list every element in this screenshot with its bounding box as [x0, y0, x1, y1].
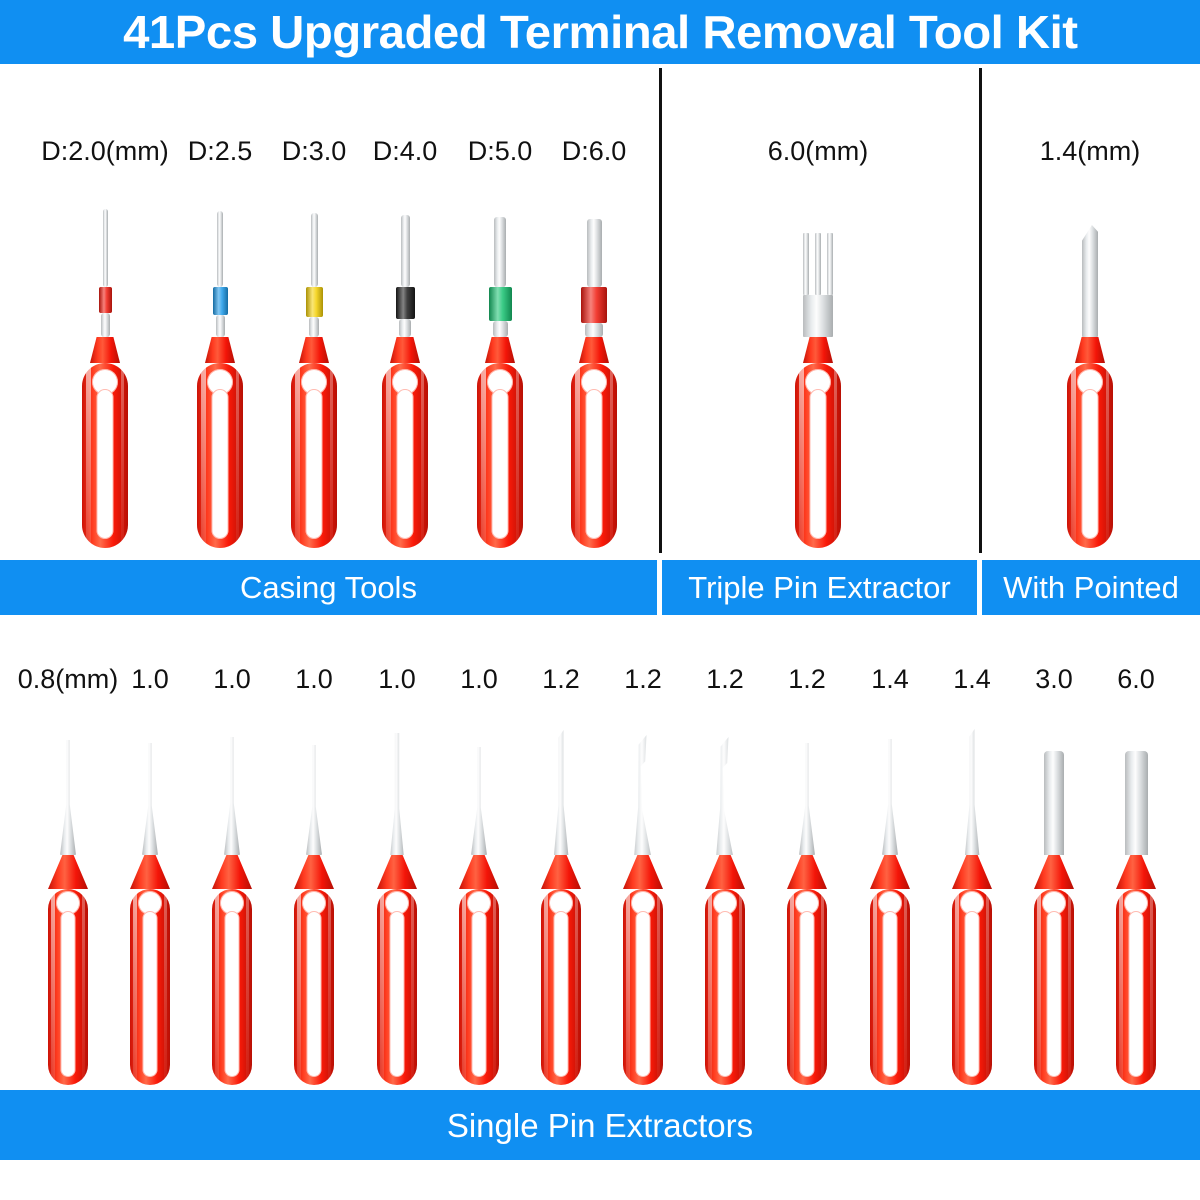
single-pin-extractor-tool[interactable]: [122, 743, 178, 1085]
casing-tool[interactable]: [470, 217, 530, 548]
category-label: With Pointed: [1003, 572, 1179, 603]
handle-body: [795, 363, 841, 548]
handle-body: [477, 363, 523, 548]
handle-slot: [1082, 389, 1099, 539]
tool-handle: [870, 855, 910, 1085]
tool-handle: [787, 855, 827, 1085]
tool-tip-tube-round: [1125, 751, 1148, 855]
handle-highlight: [462, 889, 466, 1085]
tool-tip-flat-bevel: [553, 730, 569, 855]
handle-body: [952, 889, 992, 1085]
tool-handle: [291, 337, 337, 548]
handle-highlight-secondary: [821, 889, 824, 1085]
tool-handle: [1067, 337, 1113, 548]
handle-slot: [397, 389, 414, 539]
handle-highlight: [481, 363, 486, 548]
handle-body: [459, 889, 499, 1085]
handle-neck: [1075, 337, 1105, 363]
handle-highlight: [215, 889, 219, 1085]
top-tool-row: [0, 188, 1200, 548]
handle-highlight: [133, 889, 137, 1085]
page-title: 41Pcs Upgraded Terminal Removal Tool Kit: [123, 9, 1077, 55]
handle-body: [377, 889, 417, 1085]
single-pin-extractor-tool[interactable]: [862, 739, 918, 1085]
tool-label-triple-pin: 6.0(mm): [708, 134, 928, 168]
triple-pin-extractor-tool[interactable]: [788, 233, 848, 548]
handle-body: [82, 363, 128, 548]
handle-neck: [705, 855, 745, 889]
handle-highlight: [86, 363, 91, 548]
bottom-banner-label: Single Pin Extractors: [447, 1109, 753, 1142]
tool-shaft-lower: [309, 317, 319, 337]
handle-body: [623, 889, 663, 1085]
handle-neck: [541, 855, 581, 889]
tool-shaft-lower: [493, 321, 508, 337]
tool-handle: [1116, 855, 1156, 1085]
tool-handle: [82, 337, 128, 548]
handle-slot: [636, 911, 651, 1077]
handle-highlight: [708, 889, 712, 1085]
tool-collar-red: [99, 287, 112, 313]
single-pin-extractor-tool[interactable]: [451, 747, 507, 1085]
handle-highlight-secondary: [236, 363, 239, 548]
category-label: Casing Tools: [240, 572, 417, 603]
handle-slot: [97, 389, 114, 539]
single-pin-extractor-tool[interactable]: [944, 729, 1000, 1085]
tool-handle: [705, 855, 745, 1085]
handle-neck: [1116, 855, 1156, 889]
handle-highlight: [799, 363, 804, 548]
tool-handle: [377, 855, 417, 1085]
section-divider-2: [979, 68, 982, 553]
handle-neck: [48, 855, 88, 889]
handle-slot: [61, 911, 76, 1077]
handle-highlight: [575, 363, 580, 548]
casing-tool[interactable]: [375, 215, 435, 548]
section-divider-1: [659, 68, 662, 553]
handle-body: [705, 889, 745, 1085]
tool-handle: [130, 855, 170, 1085]
handle-slot: [212, 389, 229, 539]
tool-tip-taper-needle: [224, 737, 240, 855]
tool-tip-taper-needle: [471, 747, 487, 855]
handle-body: [291, 363, 337, 548]
tool-handle: [571, 337, 617, 548]
handle-highlight: [295, 363, 300, 548]
bottom-banner-single-pin-extractors: Single Pin Extractors: [0, 1090, 1200, 1160]
handle-slot: [472, 911, 487, 1077]
handle-body: [541, 889, 581, 1085]
single-pin-extractor-tool[interactable]: [1108, 751, 1164, 1085]
handle-neck: [870, 855, 910, 889]
handle-slot: [390, 911, 405, 1077]
prong-1: [815, 233, 821, 295]
tool-label-pointed: 1.4(mm): [980, 134, 1200, 168]
pointed-tool[interactable]: [1060, 225, 1120, 548]
tool-handle: [212, 855, 252, 1085]
handle-body: [212, 889, 252, 1085]
tool-tip-taper-blade: [389, 733, 405, 855]
handle-highlight: [1119, 889, 1123, 1085]
handle-highlight-secondary: [904, 889, 907, 1085]
tool-shaft-upper: [494, 217, 506, 287]
tool-tip-hook-bent: [632, 735, 654, 855]
handle-highlight-secondary: [516, 363, 519, 548]
single-pin-extractor-tool[interactable]: [779, 743, 835, 1085]
prong-2: [827, 233, 833, 295]
handle-body: [1067, 363, 1113, 548]
handle-highlight: [201, 363, 206, 548]
tool-handle: [541, 855, 581, 1085]
handle-slot: [306, 389, 323, 539]
tool-handle: [48, 855, 88, 1085]
tool-tip-hook-bent: [714, 737, 736, 855]
tool-tip-flat-bevel: [964, 729, 980, 855]
handle-slot: [492, 389, 509, 539]
handle-highlight-secondary: [575, 889, 578, 1085]
handle-highlight: [873, 889, 877, 1085]
tool-blade-pointed: [1082, 225, 1098, 337]
tool-tip-taper-needle: [306, 745, 322, 855]
handle-slot: [554, 911, 569, 1077]
single-pin-extractor-tool[interactable]: [533, 730, 589, 1085]
handle-body: [1116, 889, 1156, 1085]
handle-body: [787, 889, 827, 1085]
handle-body: [382, 363, 428, 548]
single-pin-extractor-tool[interactable]: [697, 737, 753, 1085]
tool-collar-red: [581, 287, 607, 323]
handle-highlight-secondary: [330, 363, 333, 548]
top-label-row: D:2.0(mm)D:2.5D:3.0D:4.0D:5.0D:6.06.0(mm…: [0, 134, 1200, 168]
tool-label-single-pin-13: 6.0: [1026, 662, 1200, 696]
handle-highlight-secondary: [246, 889, 249, 1085]
handle-neck: [377, 855, 417, 889]
handle-neck: [952, 855, 992, 889]
tool-collar-yellow: [306, 287, 323, 317]
tool-shaft-lower: [585, 323, 603, 337]
category-label: Triple Pin Extractor: [688, 572, 950, 603]
handle-body: [197, 363, 243, 548]
handle-slot: [965, 911, 980, 1077]
tool-collar-green: [489, 287, 512, 321]
tool-handle: [952, 855, 992, 1085]
top-tools-section: D:2.0(mm)D:2.5D:3.0D:4.0D:5.0D:6.06.0(mm…: [0, 68, 1200, 555]
handle-highlight: [1037, 889, 1041, 1085]
handle-body: [130, 889, 170, 1085]
tool-tip-taper-needle: [882, 739, 898, 855]
tool-shaft-upper: [587, 219, 602, 287]
handle-body: [870, 889, 910, 1085]
handle-highlight: [790, 889, 794, 1085]
handle-slot: [810, 389, 827, 539]
handle-slot: [586, 389, 603, 539]
handle-highlight-secondary: [834, 363, 837, 548]
handle-highlight: [955, 889, 959, 1085]
handle-highlight-secondary: [1150, 889, 1153, 1085]
casing-tool[interactable]: [75, 209, 135, 548]
handle-highlight-secondary: [164, 889, 167, 1085]
handle-highlight-secondary: [411, 889, 414, 1085]
single-pin-extractor-tool[interactable]: [286, 745, 342, 1085]
handle-highlight: [51, 889, 55, 1085]
handle-highlight: [626, 889, 630, 1085]
category-banner-with-pointed: With Pointed: [982, 560, 1200, 615]
handle-slot: [1129, 911, 1144, 1077]
tool-handle: [459, 855, 499, 1085]
handle-neck: [787, 855, 827, 889]
tool-tip-taper-needle: [799, 743, 815, 855]
tool-collar-black: [396, 287, 415, 319]
category-banner-casing-tools: Casing Tools: [0, 560, 657, 615]
handle-highlight-secondary: [82, 889, 85, 1085]
tool-tip-taper-needle: [142, 743, 158, 855]
prong-0: [803, 233, 809, 295]
handle-slot: [307, 911, 322, 1077]
title-banner: 41Pcs Upgraded Terminal Removal Tool Kit: [0, 0, 1200, 64]
category-banner-row: Casing Tools Triple Pin Extractor With P…: [0, 560, 1200, 615]
handle-neck: [90, 337, 120, 363]
category-banner-triple-pin-extractor: Triple Pin Extractor: [662, 560, 977, 615]
tool-shaft-lower: [101, 313, 110, 337]
handle-body: [1034, 889, 1074, 1085]
tool-handle: [1034, 855, 1074, 1085]
handle-highlight-secondary: [328, 889, 331, 1085]
tool-tip-tube-round: [1044, 751, 1064, 855]
tool-shaft-upper: [103, 209, 108, 287]
handle-highlight-secondary: [493, 889, 496, 1085]
handle-highlight-secondary: [610, 363, 613, 548]
handle-neck: [459, 855, 499, 889]
handle-highlight-secondary: [121, 363, 124, 548]
tool-handle: [382, 337, 428, 548]
tool-handle: [795, 337, 841, 548]
handle-slot: [883, 911, 898, 1077]
handle-highlight: [297, 889, 301, 1085]
tool-collar-blue: [213, 287, 228, 315]
single-pin-extractor-tool[interactable]: [615, 735, 671, 1085]
tool-shaft-upper: [311, 213, 318, 287]
handle-neck: [130, 855, 170, 889]
handle-highlight-secondary: [421, 363, 424, 548]
handle-body: [48, 889, 88, 1085]
handle-slot: [800, 911, 815, 1077]
tool-blade: [803, 295, 833, 337]
casing-tool[interactable]: [564, 219, 624, 548]
handle-highlight-secondary: [739, 889, 742, 1085]
handle-neck: [485, 337, 515, 363]
triple-prongs: [803, 233, 833, 295]
bottom-tools-section: 0.8(mm)1.01.01.01.01.01.21.21.21.21.41.4…: [0, 620, 1200, 1085]
handle-highlight: [1071, 363, 1076, 548]
tool-shaft-upper: [217, 211, 223, 287]
tool-handle: [197, 337, 243, 548]
handle-neck: [1034, 855, 1074, 889]
handle-highlight-secondary: [986, 889, 989, 1085]
handle-neck: [803, 337, 833, 363]
handle-highlight-secondary: [657, 889, 660, 1085]
handle-neck: [205, 337, 235, 363]
handle-neck: [299, 337, 329, 363]
handle-slot: [225, 911, 240, 1077]
handle-body: [571, 363, 617, 548]
handle-neck: [212, 855, 252, 889]
handle-slot: [143, 911, 158, 1077]
single-pin-extractor-tool[interactable]: [369, 733, 425, 1085]
handle-slot: [1047, 911, 1062, 1077]
handle-body: [294, 889, 334, 1085]
bottom-tool-row: [0, 720, 1200, 1085]
handle-neck: [294, 855, 334, 889]
tool-handle: [294, 855, 334, 1085]
handle-highlight: [386, 363, 391, 548]
handle-highlight: [380, 889, 384, 1085]
handle-highlight: [544, 889, 548, 1085]
handle-neck: [579, 337, 609, 363]
tool-shaft-upper: [401, 215, 410, 287]
handle-neck: [390, 337, 420, 363]
tool-tip-taper-needle: [60, 740, 76, 855]
handle-highlight-secondary: [1106, 363, 1109, 548]
tool-label-casing-5: D:6.0: [484, 134, 704, 168]
handle-neck: [623, 855, 663, 889]
bottom-label-row: 0.8(mm)1.01.01.01.01.01.21.21.21.21.41.4…: [0, 662, 1200, 696]
single-pin-extractor-tool[interactable]: [1026, 751, 1082, 1085]
single-pin-extractor-tool[interactable]: [40, 740, 96, 1085]
tool-shaft-lower: [399, 319, 411, 337]
tool-shaft-lower: [216, 315, 225, 337]
tool-handle: [623, 855, 663, 1085]
single-pin-extractor-tool[interactable]: [204, 737, 260, 1085]
handle-highlight-secondary: [1068, 889, 1071, 1085]
casing-tool[interactable]: [190, 211, 250, 548]
casing-tool[interactable]: [284, 213, 344, 548]
tool-handle: [477, 337, 523, 548]
handle-slot: [718, 911, 733, 1077]
